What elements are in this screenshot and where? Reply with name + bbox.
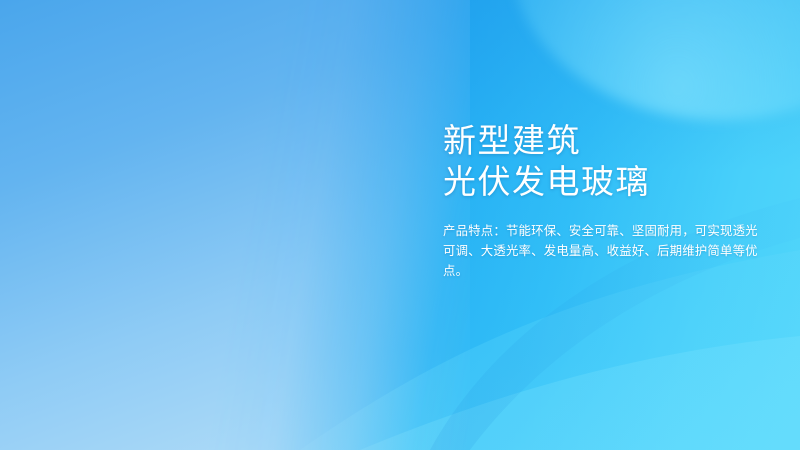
headline-line-2: 光伏发电玻璃 xyxy=(443,161,773,202)
slide-canvas: 新型建筑 光伏发电玻璃 产品特点：节能环保、安全可靠、坚固耐用，可实现透光可调、… xyxy=(0,0,800,450)
sky-gradient xyxy=(0,0,470,450)
building-photo xyxy=(0,0,470,450)
text-panel: 新型建筑 光伏发电玻璃 产品特点：节能环保、安全可靠、坚固耐用，可实现透光可调、… xyxy=(443,120,773,281)
product-features-text: 产品特点：节能环保、安全可靠、坚固耐用，可实现透光可调、大透光率、发电量高、收益… xyxy=(443,221,765,281)
headline-line-1: 新型建筑 xyxy=(443,120,773,161)
